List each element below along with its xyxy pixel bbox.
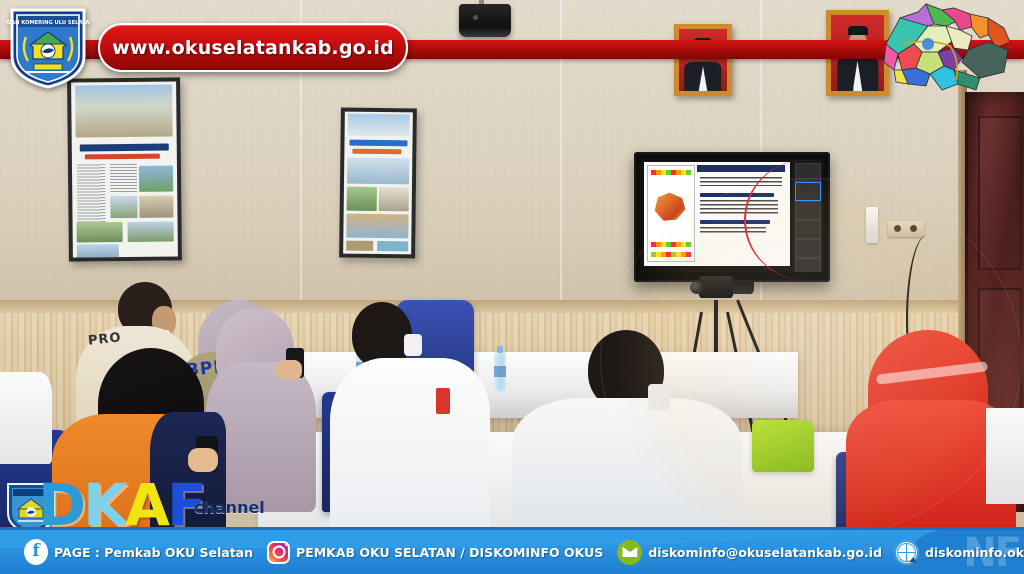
camera-lens-icon (690, 281, 704, 294)
emblem-motto-text: OGAN KOMERING ULU SELATAN (6, 20, 90, 26)
poster-program (339, 108, 417, 259)
emblem-oku-selatan-icon: OGAN KOMERING ULU SELATAN (6, 4, 90, 90)
email-label: diskominfo@okuselatankab.go.id (648, 545, 882, 560)
remote-holder[interactable] (866, 207, 878, 243)
email-icon (617, 540, 642, 565)
shoulder-patch (436, 388, 450, 414)
hand (276, 360, 302, 380)
footer-item-website[interactable]: diskominfo.okuselatankab.go.id (894, 540, 1024, 565)
face-mask (404, 334, 422, 356)
green-bag (752, 420, 814, 472)
website-url-pill[interactable]: www.okuselatankab.go.id (98, 23, 408, 72)
website-label: diskominfo.okuselatankab.go.id (925, 545, 1024, 560)
footer-item-facebook[interactable]: f PAGE : Pemkab OKU Selatan (24, 539, 253, 565)
water-bottle (494, 352, 506, 392)
footer-contact-bar: NF f PAGE : Pemkab OKU Selatan PEMKAB OK… (0, 527, 1024, 574)
wall-socket[interactable] (888, 221, 924, 237)
district-map-overlay (884, 0, 1024, 100)
channel-logo-text: DKAF (38, 476, 204, 534)
portrait-president (674, 24, 732, 96)
footer-item-instagram[interactable]: PEMKAB OKU SELATAN / DISKOMINFO OKUS (267, 541, 603, 564)
website-icon (894, 540, 919, 565)
instagram-icon (267, 541, 290, 564)
footer-item-email[interactable]: diskominfo@okuselatankab.go.id (617, 540, 882, 565)
hand (188, 448, 218, 472)
door-panel (978, 116, 1022, 270)
face-mask (648, 384, 670, 410)
video-camera (699, 276, 733, 298)
slide-map (647, 165, 695, 262)
poster-infrastruktur (67, 77, 182, 261)
facebook-icon: f (24, 539, 48, 565)
left-edge-sleeve (0, 372, 52, 464)
broadcast-frame: PRO BPBD (0, 0, 1024, 574)
instagram-label: PEMKAB OKU SELATAN / DISKOMINFO OKUS (296, 545, 603, 560)
white-sleeve (986, 408, 1024, 504)
facebook-label: PAGE : Pemkab OKU Selatan (54, 545, 253, 560)
hdmi-cable (744, 160, 866, 280)
channel-word-text: channel (194, 498, 265, 517)
website-url-text: www.okuselatankab.go.id (112, 37, 394, 59)
ceiling-speaker (459, 4, 511, 37)
